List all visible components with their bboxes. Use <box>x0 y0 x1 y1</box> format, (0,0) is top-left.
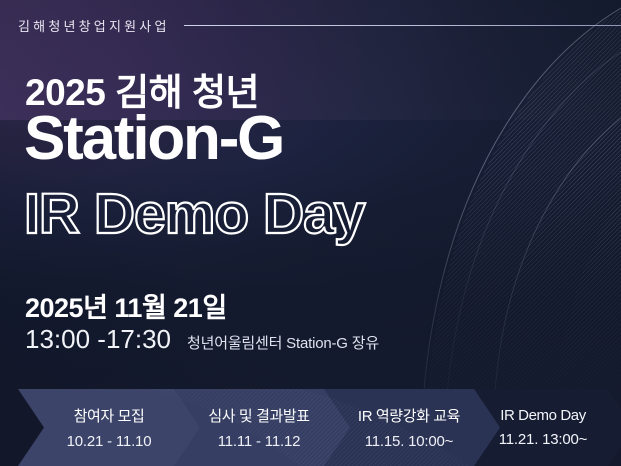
schedule-card-date: 11.21. 13:00~ <box>499 431 587 448</box>
schedule-card-title: IR 역량강화 교육 <box>358 405 460 426</box>
schedule-card-date: 10.21 - 11.10 <box>67 433 152 450</box>
event-date: 2025년 11월 21일 <box>25 286 227 325</box>
schedule-card-date: 11.11 - 11.12 <box>218 433 300 450</box>
event-time-venue-row: 13:00 -17:30 청년어울림센터 Station-G 장유 <box>25 324 379 355</box>
header-divider-line <box>184 25 621 26</box>
event-time: 13:00 -17:30 <box>25 324 171 355</box>
tagline-row: 김해청년창업지원사업 <box>18 16 621 35</box>
schedule-card-title: IR Demo Day <box>500 407 586 424</box>
event-poster: 김해청년창업지원사업 2025 김해 청년 Station-G IR Demo … <box>0 0 621 466</box>
program-tagline: 김해청년창업지원사업 <box>18 16 170 35</box>
schedule-card-list: 참여자 모집 10.21 - 11.10 심사 및 결과발표 11.11 - 1… <box>0 389 621 466</box>
schedule-card-title: 참여자 모집 <box>74 405 145 426</box>
title-main: Station-G <box>24 108 283 170</box>
title-outline: IR Demo Day <box>24 186 365 243</box>
event-venue: 청년어울림센터 Station-G 장유 <box>187 332 379 353</box>
schedule-card-date: 11.15. 10:00~ <box>365 433 453 450</box>
schedule-card-title: 심사 및 결과발표 <box>208 405 309 426</box>
schedule-card-recruitment[interactable]: 참여자 모집 10.21 - 11.10 <box>18 389 200 466</box>
